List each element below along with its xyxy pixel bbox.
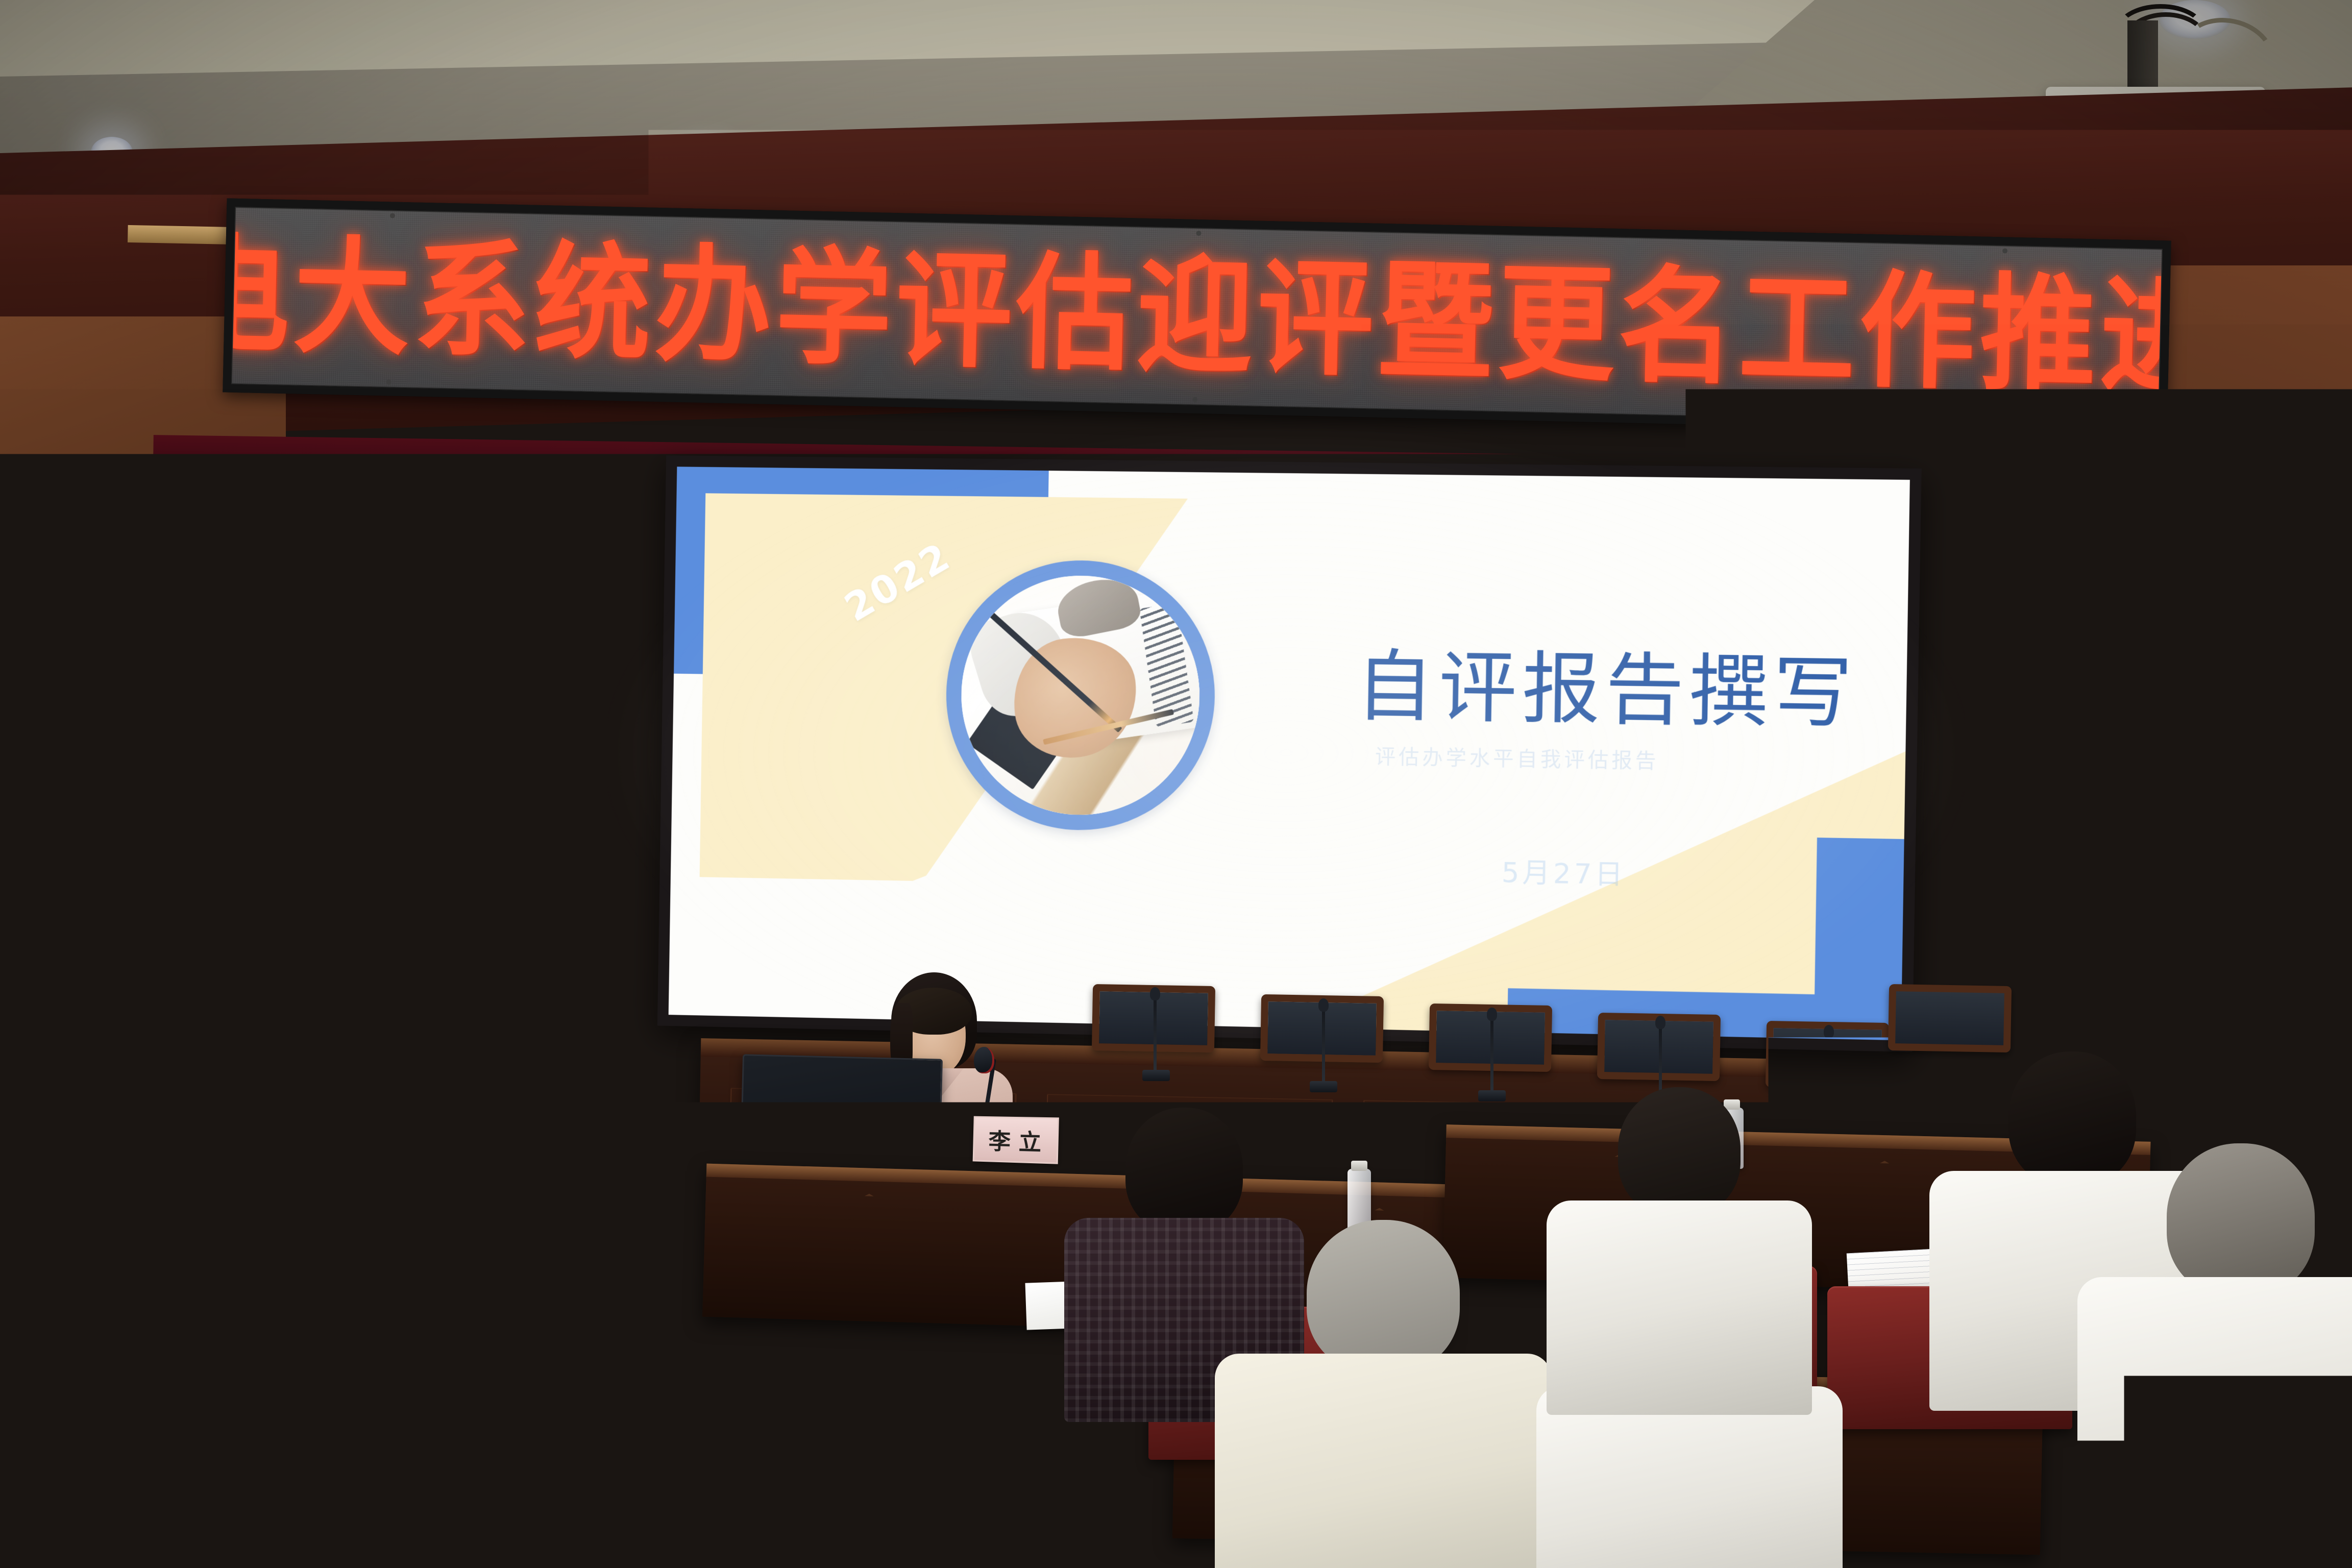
slide-date: 5月27日 (1501, 850, 1626, 893)
microphone-base (1142, 1070, 1170, 1081)
gooseneck-microphone (1322, 1007, 1325, 1083)
gooseneck-microphone (1490, 1016, 1493, 1092)
microphone-base (1310, 1081, 1337, 1092)
presentation-slide: 2022 自评报告撰写 评估办学水平自我评估报告 5月27日 (669, 467, 1910, 1040)
cabinet-door[interactable] (2299, 968, 2352, 1136)
rack-status-led (93, 1056, 101, 1063)
rack-status-led (195, 1009, 203, 1016)
thermos-flask (2232, 868, 2282, 944)
projection-screen: 2022 自评报告撰写 评估办学水平自我评估报告 5月27日 (657, 455, 1922, 1052)
warning-sign-line2-left: 停考一年 (2232, 750, 2291, 771)
attendee (1562, 1087, 1797, 1373)
microphone-base (1815, 1108, 1843, 1119)
attendee-head (1618, 1087, 1741, 1216)
cup-stack (2201, 898, 2231, 945)
attendee-head (1125, 1108, 1243, 1233)
head-table-chair[interactable] (1888, 984, 2012, 1052)
conference-room-photo: 全市电大系统办学评估迎评暨更名工作推进会议 2022 (0, 0, 2352, 1568)
presenter-nameplate: 李立 (973, 1116, 1059, 1164)
warning-sign-line1-right: 取消成绩 (2291, 729, 2350, 750)
rack-status-led (213, 1009, 220, 1016)
slide-title: 自评报告撰写 (1355, 623, 1859, 743)
microphone-base (1478, 1090, 1506, 1101)
rack-status-led (112, 1056, 119, 1063)
wireless-mic-antenna (188, 919, 191, 995)
attendee-head (1307, 1220, 1460, 1373)
presenter-nameplate-text: 李立 (981, 1123, 1050, 1157)
attendee-torso (0, 1143, 112, 1296)
attendee-torso (1547, 1200, 1812, 1415)
warning-sign-line2-right: 全国通报 (2291, 750, 2350, 771)
attendee (0, 1067, 107, 1281)
tea-tin (2307, 914, 2348, 948)
writing-hand-photo (960, 574, 1202, 817)
attendee-head (2167, 1143, 2315, 1296)
presenter-microphone-head (974, 1047, 994, 1073)
exam-warning-sign: 替考违规 取消成绩 停考一年 全国通报 (2227, 724, 2352, 779)
rack-lcd-display (95, 1005, 157, 1019)
warning-sign-line1-left: 替考违规 (2232, 730, 2291, 751)
handheld-microphone[interactable] (240, 1200, 301, 1216)
slide-subtitle: 评估办学水平自我评估报告 (1375, 740, 1659, 774)
led-banner-text: 全市电大系统办学评估迎评暨更名工作推进会议 (232, 226, 2162, 407)
gooseneck-microphone (1827, 1033, 1830, 1110)
rack-lcd-display (136, 1105, 172, 1119)
cabinet-door[interactable] (2223, 968, 2285, 1136)
gooseneck-microphone (1154, 995, 1157, 1072)
attendee-head (0, 1067, 82, 1155)
attendee-head (314, 1225, 462, 1381)
projector-mount-bracket (2127, 20, 2158, 92)
ac-energy-label (2182, 944, 2209, 976)
rack-status-led (149, 1056, 156, 1063)
wireless-mic-antenna (134, 919, 137, 995)
slide-circular-photo-frame (944, 559, 1217, 832)
rack-status-led (130, 1056, 137, 1063)
